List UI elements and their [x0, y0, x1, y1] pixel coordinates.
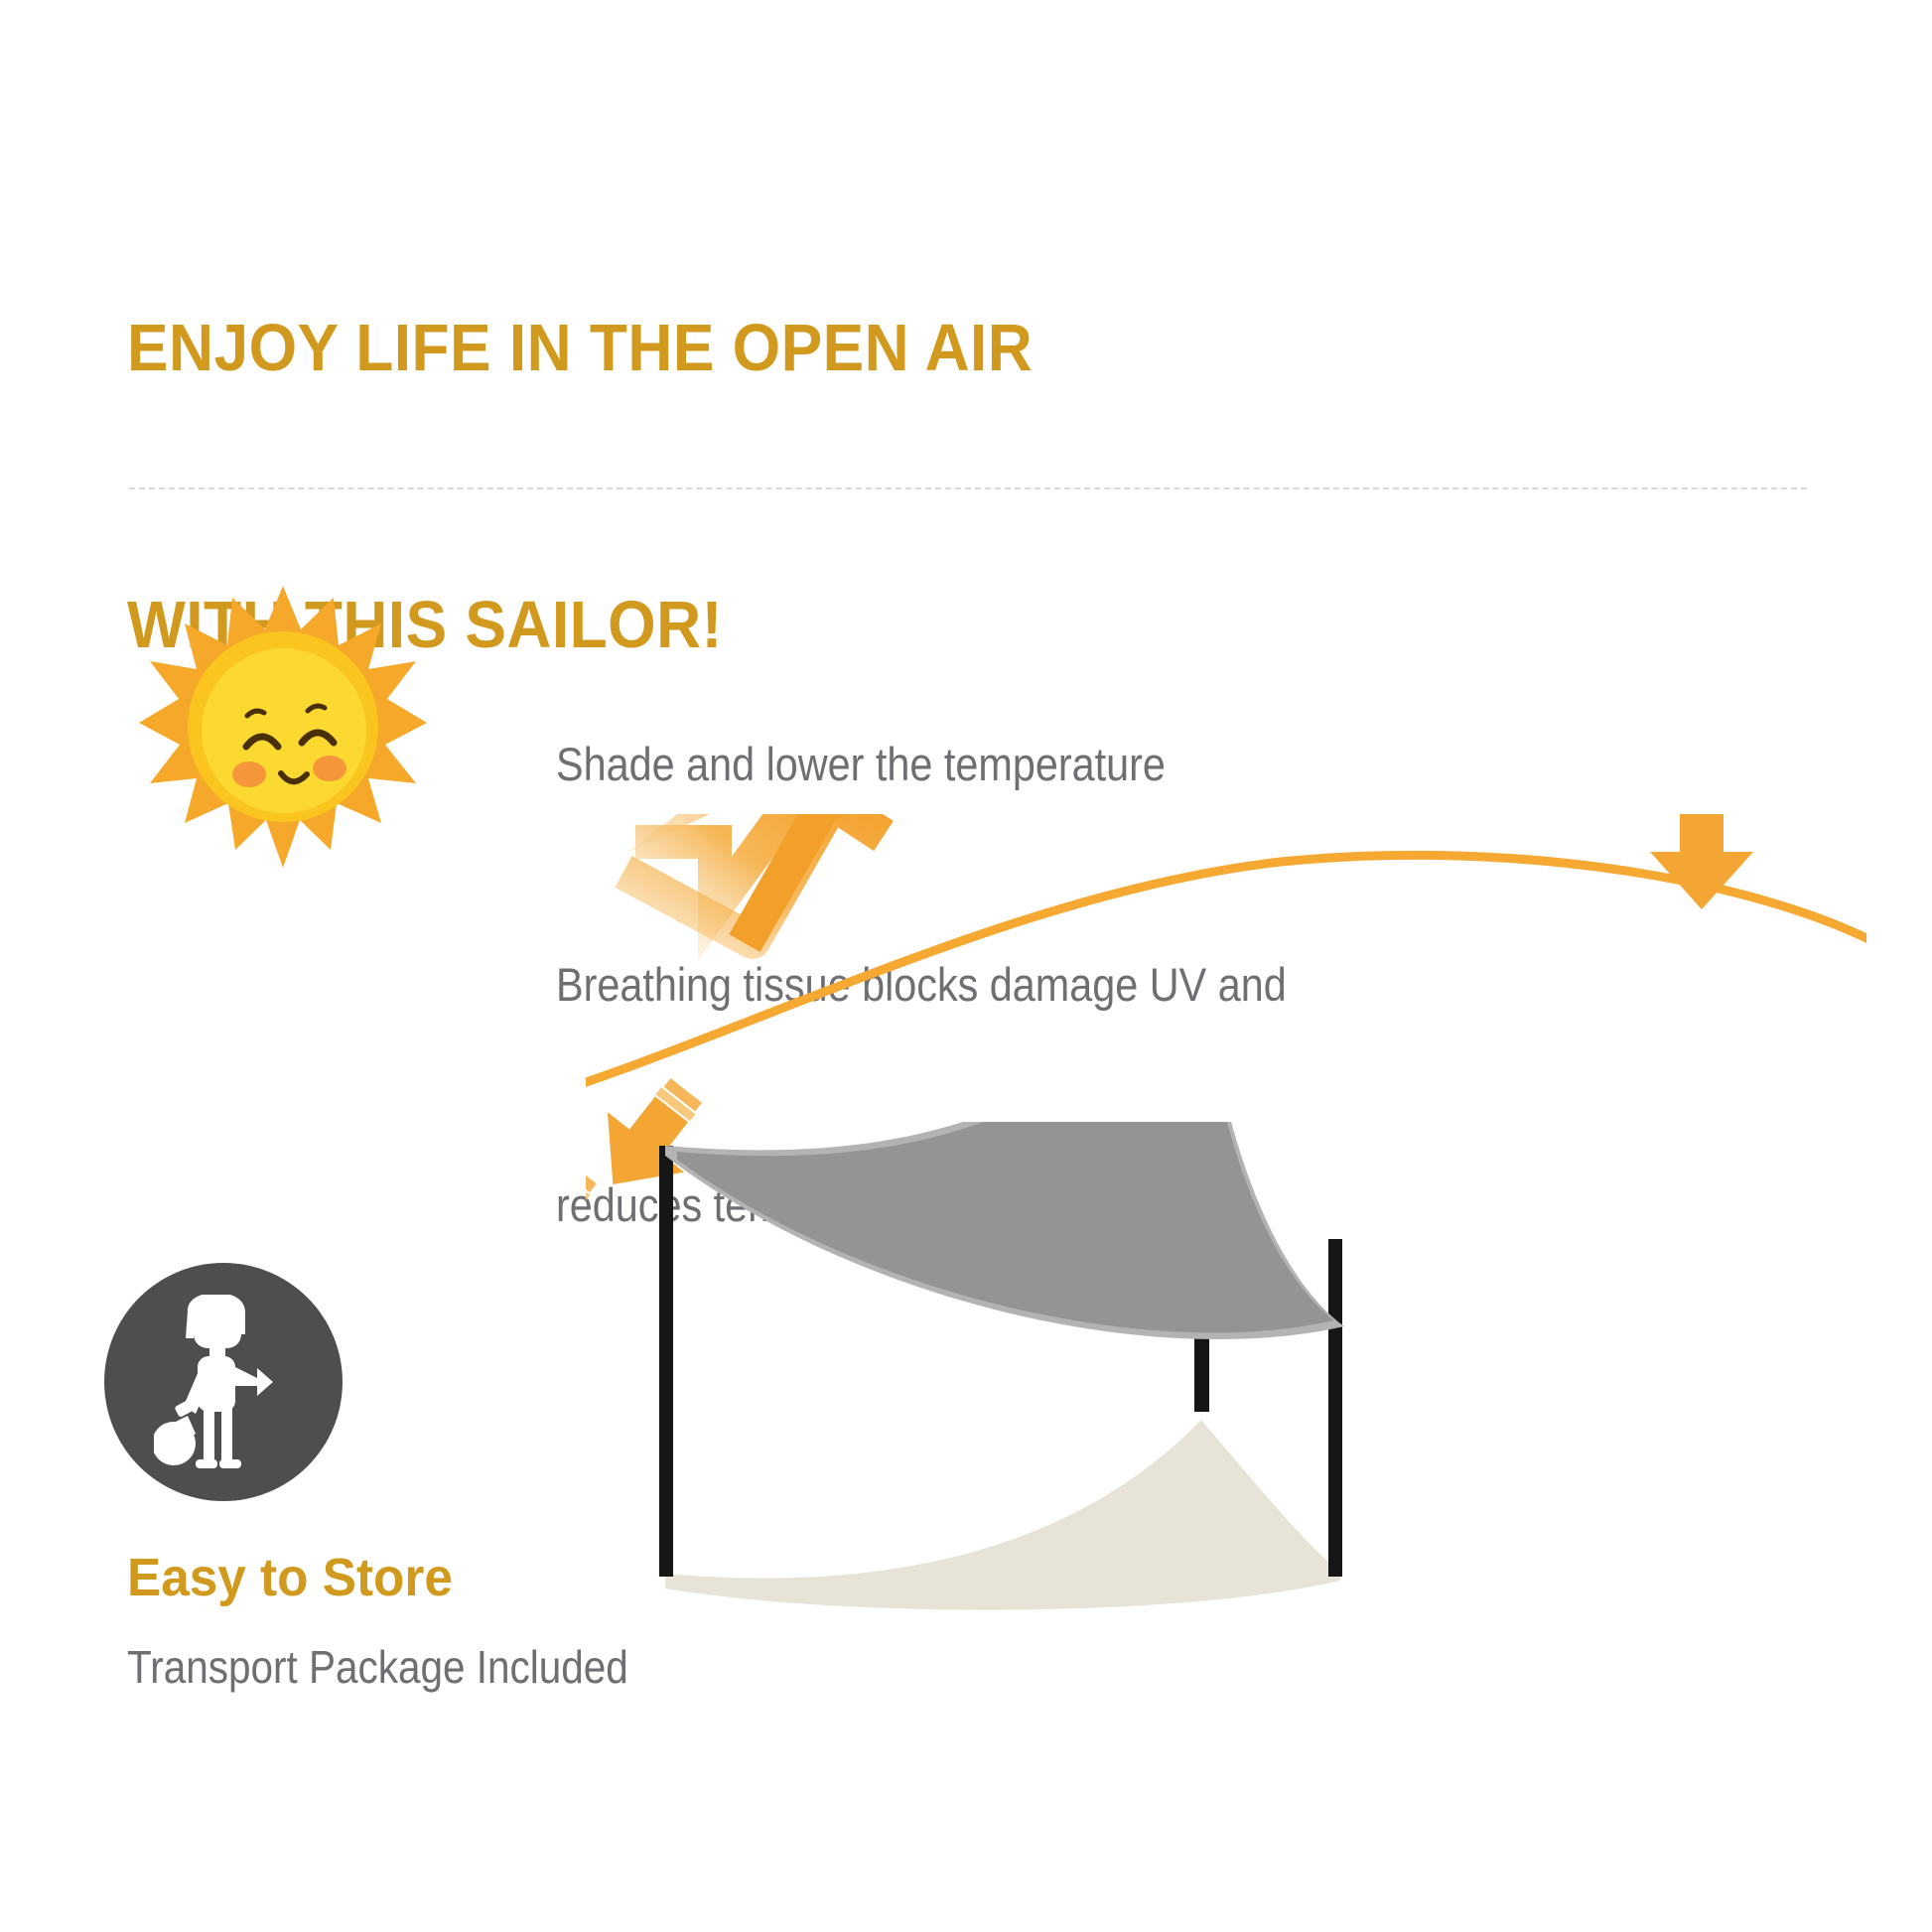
store-title: Easy to Store [127, 1547, 453, 1608]
triangle-shade-sail [625, 1122, 1420, 1916]
feature-line-1: Shade and lower the temperature [556, 728, 1412, 801]
ground-shadow [665, 1420, 1340, 1610]
traveler-with-luggage-icon [154, 1295, 295, 1471]
store-subtitle: Transport Package Included [127, 1638, 628, 1696]
pole-right [1328, 1239, 1342, 1577]
headline-line-1: ENJOY LIFE IN THE OPEN AIR [127, 302, 1420, 394]
easy-to-store-badge [104, 1263, 343, 1501]
infographic-page: ENJOY LIFE IN THE OPEN AIR WITH THIS SAI… [0, 0, 1932, 1932]
pole-left [659, 1146, 673, 1577]
dotted-divider [129, 487, 1807, 489]
sun-icon [139, 584, 427, 872]
